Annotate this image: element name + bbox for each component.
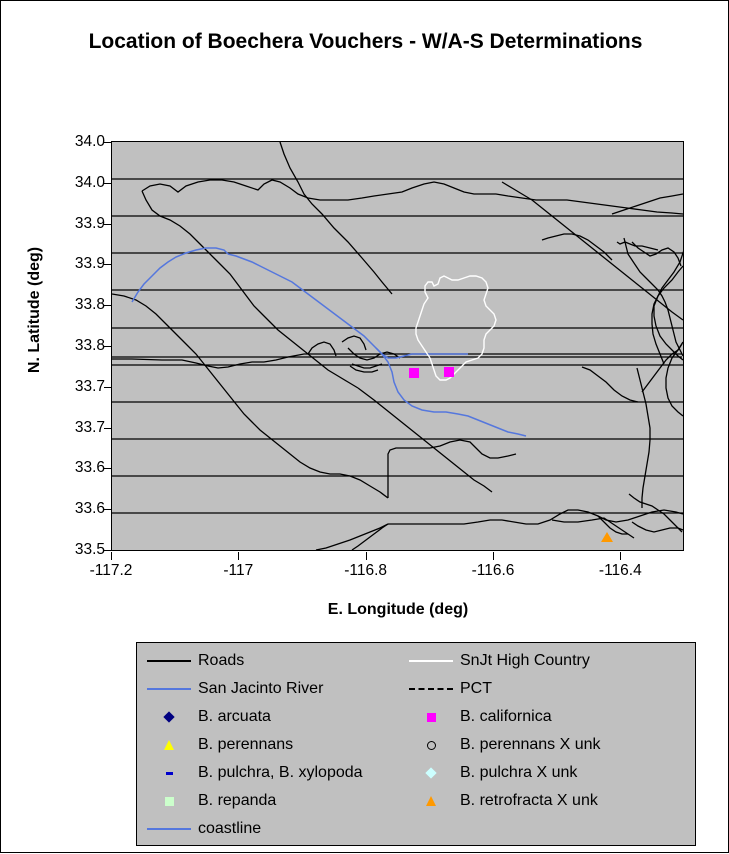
legend-label: B. perennans X unk bbox=[457, 736, 601, 754]
legend-label: B. pulchra X unk bbox=[457, 764, 577, 782]
coastline-line-key bbox=[143, 816, 195, 842]
legend-item-b-pulchra-x-unk[interactable]: B. pulchra X unk bbox=[405, 760, 577, 786]
x-tick-mark bbox=[620, 552, 621, 560]
diamond-marker-icon bbox=[405, 760, 457, 786]
legend-item-b-retrofracta-x-unk[interactable]: B. retrofracta X unk bbox=[405, 788, 598, 814]
legend-item-san-jacinto-river[interactable]: San Jacinto River bbox=[143, 676, 323, 702]
chart-figure: Location of Boechera Vouchers - W/A-S De… bbox=[0, 0, 729, 853]
map-canvas bbox=[112, 142, 683, 550]
legend-item-b-perennans-x-unk[interactable]: B. perennans X unk bbox=[405, 732, 601, 758]
legend-label: B. pulchra, B. xylopoda bbox=[195, 764, 363, 782]
x-tick-label: -117.2 bbox=[56, 562, 166, 580]
y-tick-label: 33.9 bbox=[7, 217, 105, 231]
legend-label: B. perennans bbox=[195, 736, 293, 754]
y-tick-label: 33.8 bbox=[7, 298, 105, 312]
legend-label: B. repanda bbox=[195, 792, 276, 810]
x-tick-label: -117 bbox=[183, 562, 293, 580]
y-tick-label: 33.7 bbox=[7, 421, 105, 435]
legend-label: PCT bbox=[457, 680, 492, 698]
square-marker-icon bbox=[143, 788, 195, 814]
data-markers-layer bbox=[409, 367, 613, 542]
y-tick-label: 33.8 bbox=[7, 339, 105, 353]
marker-b-retrofracta-x-unk bbox=[601, 532, 613, 542]
legend-item-coastline[interactable]: coastline bbox=[143, 816, 261, 842]
map-plot-area bbox=[111, 141, 684, 551]
x-axis-title: E. Longitude (deg) bbox=[111, 601, 685, 619]
x-tick-label: -116.4 bbox=[565, 562, 675, 580]
y-tick-label: 34.0 bbox=[7, 176, 105, 190]
x-tick-label: -116.8 bbox=[311, 562, 421, 580]
legend-item-b-pulchra-xylopoda[interactable]: B. pulchra, B. xylopoda bbox=[143, 760, 363, 786]
legend-label: Roads bbox=[195, 652, 244, 670]
x-tick-mark bbox=[111, 552, 112, 560]
legend-label: B. retrofracta X unk bbox=[457, 792, 598, 810]
x-tick-mark bbox=[238, 552, 239, 560]
legend-item-roads[interactable]: Roads bbox=[143, 648, 244, 674]
legend-label: B. arcuata bbox=[195, 708, 271, 726]
legend-label: coastline bbox=[195, 820, 261, 838]
legend-item-b-repanda[interactable]: B. repanda bbox=[143, 788, 276, 814]
x-tick-label: -116.6 bbox=[438, 562, 548, 580]
legend-item-pct[interactable]: PCT bbox=[405, 676, 492, 702]
chart-legend: Roads San Jacinto River B. arcuata B. pe… bbox=[136, 642, 696, 846]
chart-title: Location of Boechera Vouchers - W/A-S De… bbox=[1, 27, 729, 57]
roads-layer bbox=[112, 142, 683, 550]
river-line-key bbox=[143, 676, 195, 702]
legend-item-b-arcuata[interactable]: B. arcuata bbox=[143, 704, 271, 730]
y-tick-label: 33.5 bbox=[7, 543, 105, 557]
x-tick-mark bbox=[366, 552, 367, 560]
y-tick-label: 33.7 bbox=[7, 380, 105, 394]
legend-item-b-californica[interactable]: B. californica bbox=[405, 704, 552, 730]
river-coastline-layer bbox=[132, 248, 526, 436]
roads-line-key bbox=[143, 648, 195, 674]
square-marker-icon bbox=[405, 704, 457, 730]
legend-label: B. californica bbox=[457, 708, 552, 726]
y-tick-label: 33.9 bbox=[7, 257, 105, 271]
x-axis-tick-labels: -117.2-117-116.8-116.6-116.4 bbox=[1, 562, 729, 586]
diamond-marker-icon bbox=[143, 704, 195, 730]
y-tick-label: 33.6 bbox=[7, 502, 105, 516]
open-circle-marker-icon bbox=[405, 732, 457, 758]
legend-label: SnJt High Country bbox=[457, 652, 590, 670]
y-tick-label: 33.6 bbox=[7, 461, 105, 475]
y-tick-label: 34.0 bbox=[7, 135, 105, 149]
dash-marker-icon bbox=[143, 760, 195, 786]
marker-b-californica bbox=[444, 367, 454, 377]
marker-b-californica bbox=[409, 368, 419, 378]
y-axis-tick-labels: 34.034.033.933.933.833.833.733.733.633.6… bbox=[1, 1, 105, 854]
legend-label: San Jacinto River bbox=[195, 680, 323, 698]
x-tick-mark bbox=[493, 552, 494, 560]
high-country-line-key bbox=[405, 648, 457, 674]
triangle-marker-icon bbox=[143, 732, 195, 758]
legend-item-snjt-high-country[interactable]: SnJt High Country bbox=[405, 648, 590, 674]
pct-dashed-line-key bbox=[405, 676, 457, 702]
legend-item-b-perennans[interactable]: B. perennans bbox=[143, 732, 293, 758]
gridlines bbox=[112, 179, 683, 513]
triangle-marker-icon bbox=[405, 788, 457, 814]
